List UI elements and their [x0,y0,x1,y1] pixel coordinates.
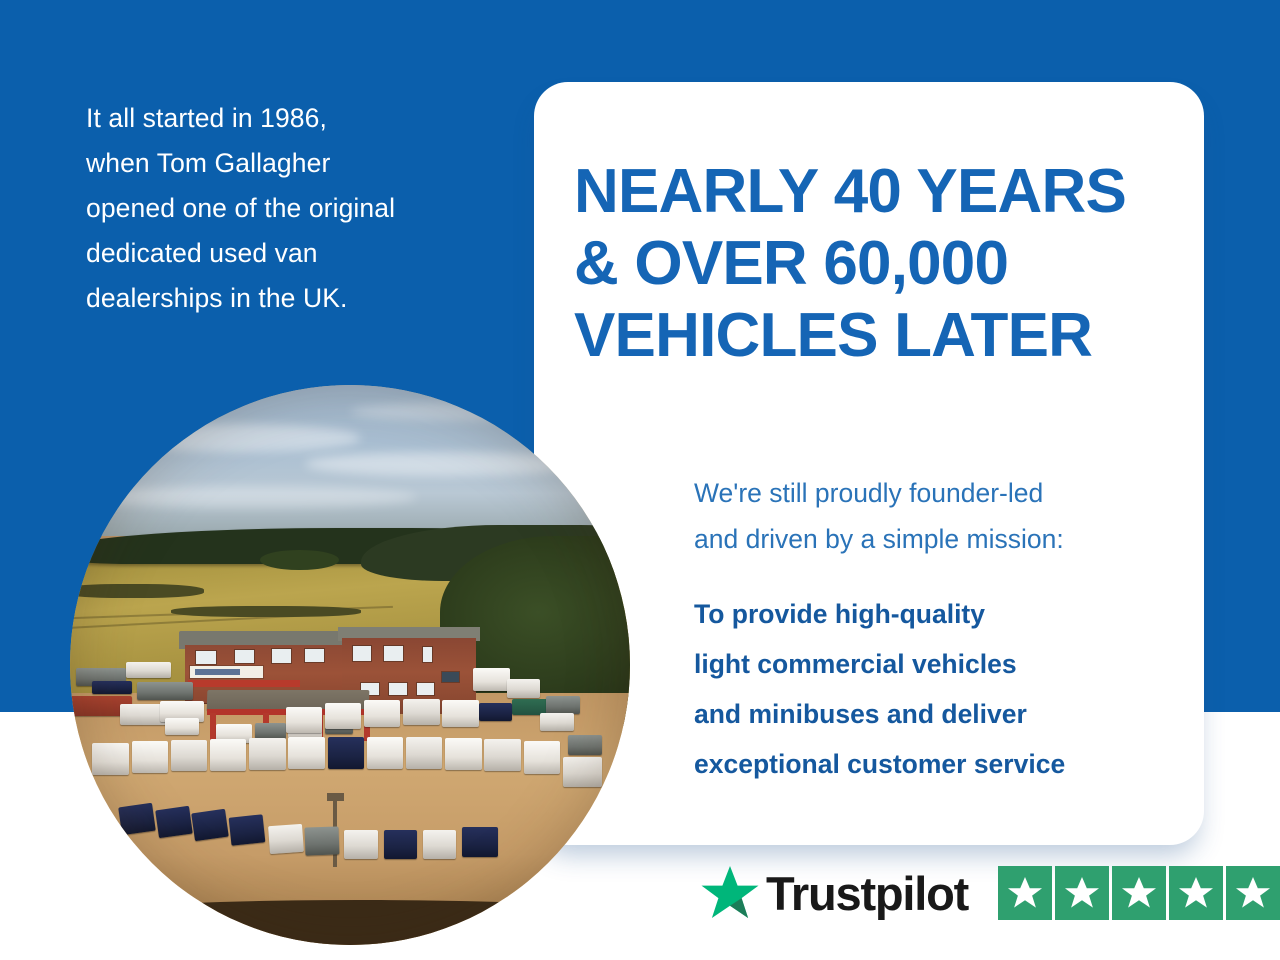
photo-vehicle [155,806,192,838]
photo-window [384,646,403,661]
photo-window [305,649,324,662]
trustpilot-stars [998,866,1280,920]
photo-window [442,672,459,682]
photo-window [417,683,434,695]
heritage-dealership-photo [70,385,630,945]
trustpilot-star-5 [1226,866,1280,920]
photo-vehicle [473,668,509,692]
trustpilot-star-2 [1055,866,1109,920]
photo-vehicle [171,740,207,771]
photo-vehicle [288,737,324,769]
intro-paragraph: It all started in 1986, when Tom Gallagh… [86,96,486,321]
photo-vehicle [568,735,602,755]
photo-vehicle [423,830,457,859]
photo-vehicle [384,830,418,859]
trustpilot-rating[interactable]: Trustpilot [700,862,1280,924]
photo-vehicle [325,703,361,729]
photo-vehicle [540,713,574,731]
photo-vehicle [524,741,560,773]
infographic-canvas: It all started in 1986, when Tom Gallagh… [0,0,1280,960]
photo-vehicle [507,679,541,698]
photo-vehicle [563,757,602,786]
photo-cloud [305,452,585,476]
photo-vehicle [137,682,193,700]
photo-window [389,683,407,695]
photo-cloud [115,424,361,452]
photo-vehicle [403,699,439,726]
photo-vehicle [249,738,285,770]
star-icon [1063,874,1101,912]
photo-vehicle [479,703,513,721]
photo-vehicle [165,718,199,735]
photo-vehicle [484,739,520,771]
star-icon [1234,874,1272,912]
photo-building-sign [190,666,263,678]
star-icon [1120,874,1158,912]
photo-window [353,646,371,661]
photo-hedge [171,606,361,617]
photo-vehicle [228,815,264,846]
photo-window [196,651,216,664]
trustpilot-logo[interactable]: Trustpilot [700,864,968,922]
photo-vehicle [92,743,128,774]
photo-red-fascia [188,680,300,688]
photo-vehicle [191,808,228,840]
photo-vehicle [268,823,303,853]
trustpilot-star-4 [1169,866,1223,920]
photo-vehicle [364,700,400,727]
photo-window [272,649,291,662]
trustpilot-wordmark: Trustpilot [766,870,968,917]
trustpilot-star-3 [1112,866,1166,920]
photo-vehicle [255,723,286,740]
mission-statement: To provide high-quality light commercial… [694,589,1164,789]
photo-vehicle [305,827,340,856]
page-title: NEARLY 40 YEARS & OVER 60,000 VEHICLES L… [574,156,1174,372]
photo-cloud [81,486,417,508]
photo-vehicle [286,707,322,733]
photo-foreground-shade [70,900,630,945]
photo-vehicle [210,739,246,771]
content-card: NEARLY 40 YEARS & OVER 60,000 VEHICLES L… [534,82,1204,845]
star-icon [1006,874,1044,912]
photo-vehicle [445,738,481,770]
photo-cloud [350,402,574,421]
photo-vehicle [546,696,580,714]
trustpilot-star-icon [700,864,760,922]
photo-vehicle [406,737,442,769]
photo-vehicle [132,741,168,772]
photo-vehicle [92,681,131,694]
photo-window [423,647,432,662]
photo-vehicle [344,830,378,859]
star-icon [1177,874,1215,912]
photo-window [235,650,254,663]
trustpilot-star-1 [998,866,1052,920]
photo-hedge [70,584,204,599]
photo-vehicle [462,827,498,856]
photo-vehicle [442,700,478,727]
photo-content [70,385,630,945]
photo-vehicle [119,803,156,835]
photo-vehicle [367,737,403,769]
photo-vehicle [126,662,171,678]
photo-vehicle [328,737,364,769]
lede-paragraph: We're still proudly founder-led and driv… [694,470,1174,562]
